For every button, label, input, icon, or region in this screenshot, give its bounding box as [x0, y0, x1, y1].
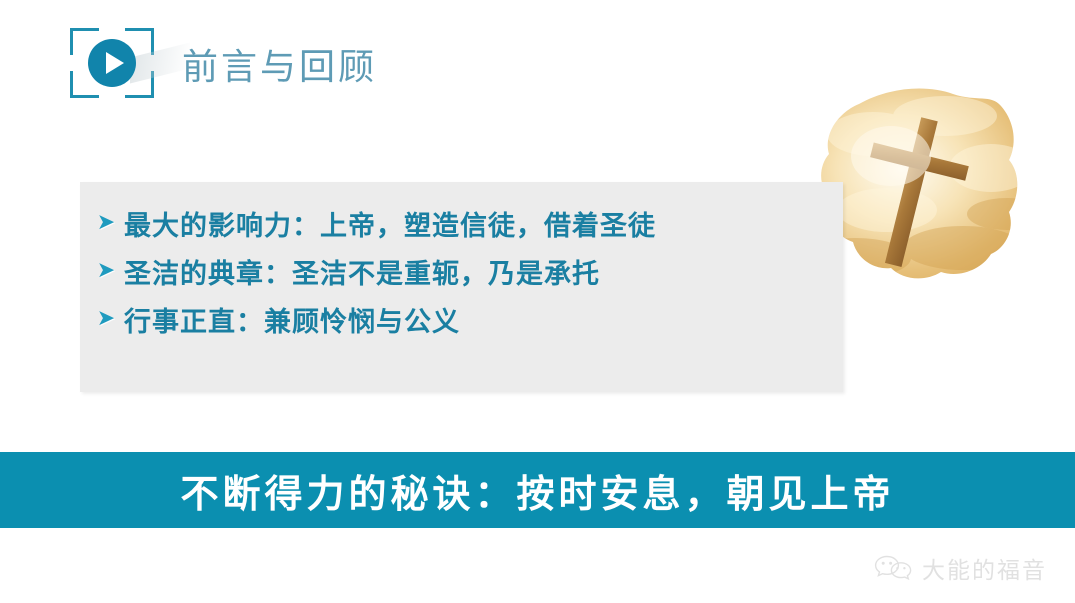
bullet-text: 行事正直：兼顾怜悯与公义: [124, 300, 460, 339]
play-circle-icon: [88, 39, 136, 87]
play-triangle-icon: [106, 52, 124, 74]
wechat-icon: [874, 553, 914, 583]
list-item: ➤ 圣洁的典章：圣洁不是重轭，乃是承托: [88, 250, 656, 292]
watermark: 大能的福音: [874, 551, 1047, 585]
bullet-list: ➤ 最大的影响力：上帝，塑造信徒，借着圣徒 ➤ 圣洁的典章：圣洁不是重轭，乃是承…: [88, 202, 656, 346]
bullet-arrow-icon: ➤: [88, 260, 124, 282]
watermark-text: 大能的福音: [922, 551, 1047, 585]
content-panel: ➤ 最大的影响力：上帝，塑造信徒，借着圣徒 ➤ 圣洁的典章：圣洁不是重轭，乃是承…: [80, 182, 843, 392]
page-title: 前言与回顾: [182, 38, 377, 90]
bullet-text: 圣洁的典章：圣洁不是重轭，乃是承托: [124, 252, 600, 291]
bullet-arrow-icon: ➤: [88, 308, 124, 330]
banner-text: 不断得力的秘诀：按时安息，朝见上帝: [180, 463, 894, 518]
list-item: ➤ 最大的影响力：上帝，塑造信徒，借着圣徒: [88, 202, 656, 244]
bullet-text: 最大的影响力：上帝，塑造信徒，借着圣徒: [124, 204, 656, 243]
slide-canvas: 前言与回顾: [0, 0, 1075, 603]
highlight-banner: 不断得力的秘诀：按时安息，朝见上帝: [0, 452, 1075, 528]
bullet-arrow-icon: ➤: [88, 212, 124, 234]
play-button-in-brackets-icon: [70, 28, 154, 98]
list-item: ➤ 行事正直：兼顾怜悯与公义: [88, 298, 656, 340]
